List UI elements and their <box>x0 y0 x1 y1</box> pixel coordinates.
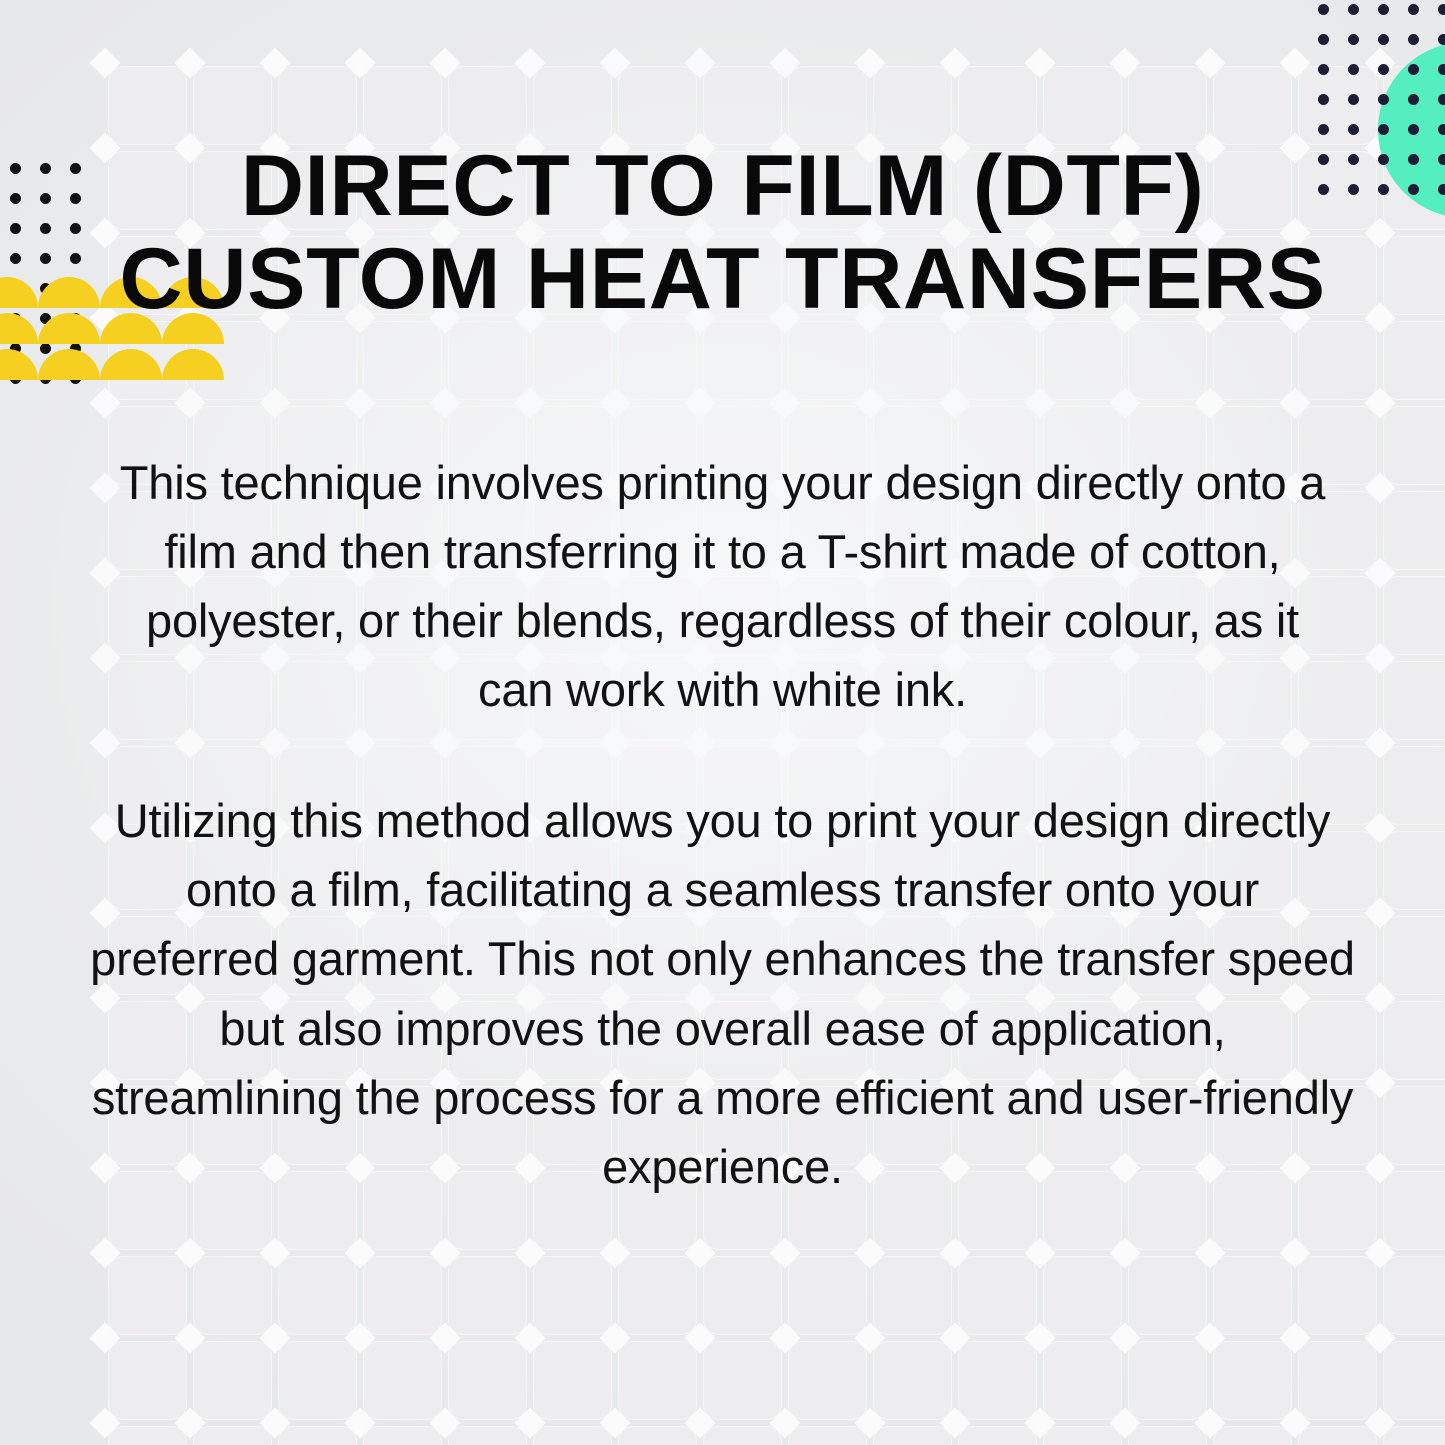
body-text-block: This technique involves printing your de… <box>0 448 1445 1201</box>
poster-canvas: DIRECT TO FILM (DTF) CUSTOM HEAT TRANSFE… <box>0 0 1445 1445</box>
body-paragraph-2: Utilizing this method allows you to prin… <box>90 786 1355 1200</box>
body-paragraph-1: This technique involves printing your de… <box>103 448 1343 724</box>
title-line-1: DIRECT TO FILM (DTF) <box>57 140 1388 233</box>
page-title: DIRECT TO FILM (DTF) CUSTOM HEAT TRANSFE… <box>0 140 1445 326</box>
poster-content: DIRECT TO FILM (DTF) CUSTOM HEAT TRANSFE… <box>0 0 1445 1445</box>
title-line-2: CUSTOM HEAT TRANSFERS <box>57 233 1388 326</box>
